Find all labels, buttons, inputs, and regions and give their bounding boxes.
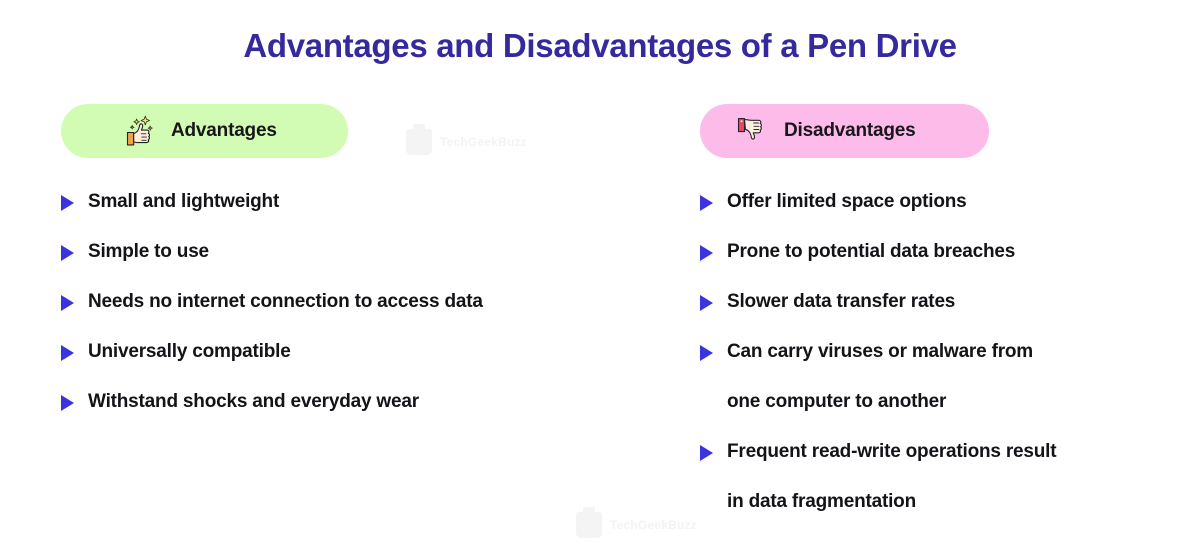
- watermark-logo-icon: [576, 512, 602, 538]
- list-item: Withstand shocks and everyday wear: [61, 391, 483, 441]
- list-item: Prone to potential data breaches: [700, 241, 1056, 291]
- list-item: Offer limited space options: [700, 191, 1056, 241]
- disadvantages-header-label: Disadvantages: [784, 120, 916, 142]
- triangle-bullet-icon: [700, 444, 714, 460]
- list-item-continuation: in data fragmentation: [700, 491, 1056, 541]
- list-item: Frequent read-write operations result: [700, 441, 1056, 491]
- list-item-text: Small and lightweight: [88, 191, 279, 213]
- list-item: Can carry viruses or malware from: [700, 341, 1056, 391]
- triangle-bullet-icon: [61, 294, 75, 310]
- list-item-continuation: one computer to another: [700, 391, 1056, 441]
- thumbs-down-icon: [732, 112, 770, 150]
- list-item-text: Offer limited space options: [727, 191, 967, 213]
- infographic-root: Advantages and Disadvantages of a Pen Dr…: [0, 0, 1200, 560]
- triangle-bullet-icon: [61, 244, 75, 260]
- list-item-text: Simple to use: [88, 241, 209, 263]
- advantages-header-pill: Advantages: [61, 104, 348, 158]
- triangle-bullet-icon: [700, 344, 714, 360]
- list-item-text: Withstand shocks and everyday wear: [88, 391, 419, 413]
- list-item: Small and lightweight: [61, 191, 483, 241]
- list-item: Simple to use: [61, 241, 483, 291]
- list-item-text: Slower data transfer rates: [727, 291, 955, 313]
- triangle-bullet-icon: [61, 194, 75, 210]
- list-item-text: one computer to another: [727, 391, 946, 413]
- page-title: Advantages and Disadvantages of a Pen Dr…: [0, 27, 1200, 65]
- triangle-bullet-icon: [61, 394, 75, 410]
- list-item: Universally compatible: [61, 341, 483, 391]
- advantages-list: Small and lightweight Simple to use Need…: [61, 191, 483, 441]
- list-item-text: Universally compatible: [88, 341, 291, 363]
- list-item: Needs no internet connection to access d…: [61, 291, 483, 341]
- list-item-text: Needs no internet connection to access d…: [88, 291, 483, 313]
- bullet-spacer: [700, 494, 714, 510]
- list-item-text: Can carry viruses or malware from: [727, 341, 1033, 363]
- thumbs-up-sparkle-icon: [119, 112, 157, 150]
- triangle-bullet-icon: [700, 244, 714, 260]
- list-item-text: in data fragmentation: [727, 491, 916, 513]
- list-item-text: Frequent read-write operations result: [727, 441, 1056, 463]
- triangle-bullet-icon: [700, 194, 714, 210]
- advantages-header-label: Advantages: [171, 120, 277, 142]
- watermark-text: TechGeekBuzz: [610, 518, 697, 532]
- list-item: Slower data transfer rates: [700, 291, 1056, 341]
- list-item-text: Prone to potential data breaches: [727, 241, 1015, 263]
- disadvantages-column: Disadvantages Offer limited space option…: [700, 104, 1180, 158]
- disadvantages-list: Offer limited space options Prone to pot…: [700, 191, 1056, 541]
- advantages-column: Advantages Small and lightweight Simple …: [61, 104, 661, 158]
- watermark: TechGeekBuzz: [576, 512, 697, 538]
- triangle-bullet-icon: [700, 294, 714, 310]
- triangle-bullet-icon: [61, 344, 75, 360]
- disadvantages-header-pill: Disadvantages: [700, 104, 989, 158]
- bullet-spacer: [700, 394, 714, 410]
